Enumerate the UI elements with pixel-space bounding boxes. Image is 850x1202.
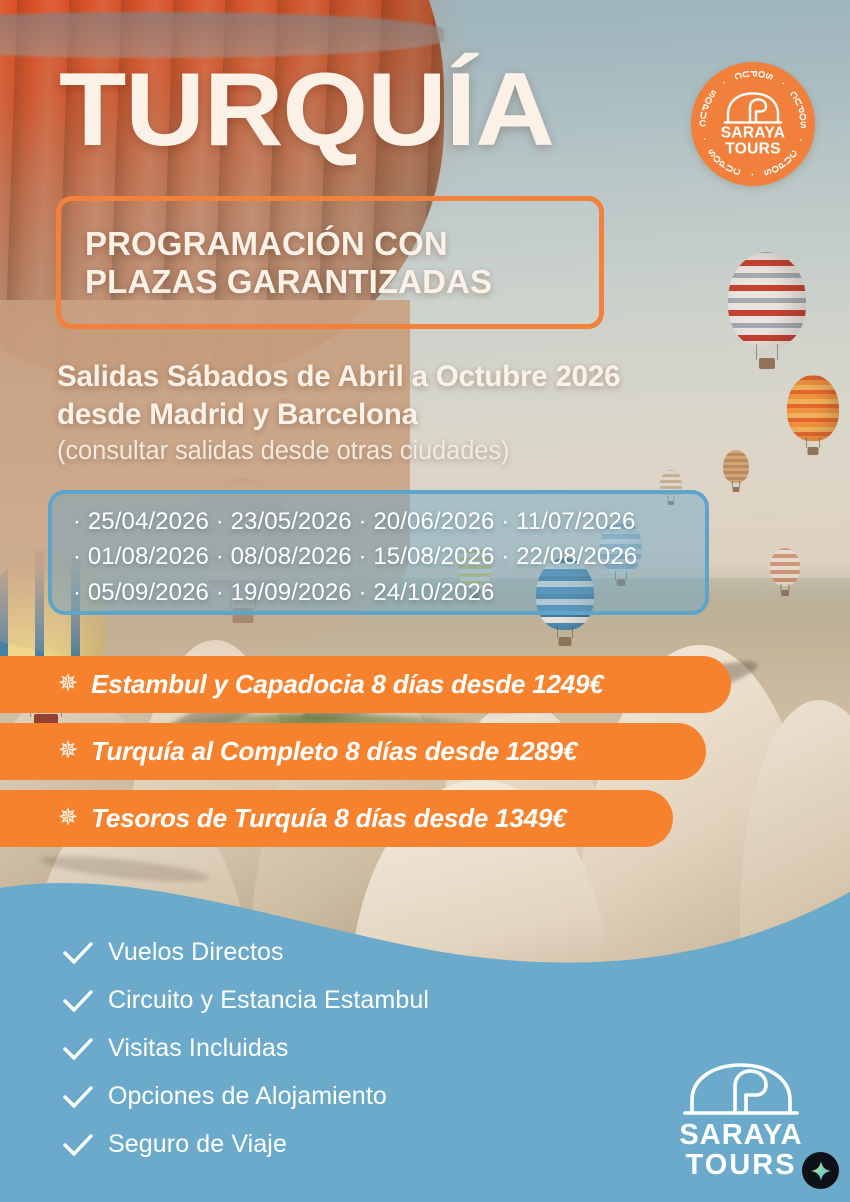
departures-line1: Salidas Sábados de Abril a Octubre 2026 (57, 358, 797, 396)
feature-label: Seguro de Viaje (108, 1132, 287, 1157)
features-list: Vuelos Directos Circuito y Estancia Esta… (62, 936, 429, 1161)
check-icon (62, 989, 94, 1013)
offer-banner-label: Turquía al Completo 8 días desde 1289€ (91, 736, 577, 767)
ai-sparkle-icon (810, 1160, 832, 1182)
ai-watermark-badge (802, 1152, 839, 1189)
dates-row: · 05/09/2026 · 19/09/2026 · 24/10/2026 (73, 575, 705, 610)
departures-line2: desde Madrid y Barcelona (57, 396, 797, 434)
footer-logo: SARAYA TOURS (672, 1058, 810, 1180)
hot-air-balloon (728, 252, 806, 348)
list-item: Vuelos Directos (62, 936, 429, 969)
page-title: TURQUÍA (59, 58, 554, 162)
saraya-arch-logo-icon (682, 1058, 800, 1116)
offer-banner-1[interactable]: ✵ Estambul y Capadocia 8 días desde 1249… (0, 656, 731, 713)
eight-point-star-icon: ✵ (58, 806, 78, 830)
offer-banner-label: Tesoros de Turquía 8 días desde 1349€ (91, 803, 566, 834)
feature-label: Vuelos Directos (108, 940, 284, 965)
check-icon (62, 941, 94, 965)
footer-logo-line1: SARAYA (672, 1121, 810, 1151)
headline-line2: PLAZAS GARANTIZADAS (85, 263, 492, 300)
list-item: Opciones de Alojamiento (62, 1080, 429, 1113)
hot-air-balloon (770, 548, 800, 586)
feature-label: Visitas Incluidas (108, 1036, 289, 1061)
guaranteed-seats-box: PROGRAMACIÓN CON PLAZAS GARANTIZADAS (56, 196, 604, 329)
headline-text: PROGRAMACIÓN CON PLAZAS GARANTIZADAS (61, 225, 492, 300)
offer-banner-label: Estambul y Capadocia 8 días desde 1249€ (91, 669, 603, 700)
check-icon (62, 1133, 94, 1157)
footer-logo-line2: TOURS (672, 1151, 810, 1181)
departures-note: (consultar salidas desde otras ciudades) (57, 437, 797, 466)
check-icon (62, 1085, 94, 1109)
eight-point-star-icon: ✵ (58, 672, 78, 696)
list-item: Circuito y Estancia Estambul (62, 984, 429, 1017)
eight-point-star-icon: ✵ (58, 739, 78, 763)
feature-label: Circuito y Estancia Estambul (108, 988, 429, 1013)
offer-banner-3[interactable]: ✵ Tesoros de Turquía 8 días desde 1349€ (0, 790, 673, 847)
saraya-arch-logo-icon (723, 90, 783, 124)
cupos-badge: CUPOS · CUPOS · CUPOS · CUPOS · CUPOS · … (691, 62, 815, 186)
list-item: Visitas Incluidas (62, 1032, 429, 1065)
travel-poster: TURQUÍA CUPOS · CUPOS · CUPOS · CUPOS · … (0, 0, 850, 1202)
badge-brand-line2: TOURS (710, 142, 796, 158)
list-item: Seguro de Viaje (62, 1128, 429, 1161)
badge-brand-line1: SARAYA (710, 125, 796, 141)
badge-core: SARAYA TOURS (710, 90, 796, 157)
dates-row: · 01/08/2026 · 08/08/2026 · 15/08/2026 ·… (73, 539, 705, 574)
offer-banner-2[interactable]: ✵ Turquía al Completo 8 días desde 1289€ (0, 723, 706, 780)
departures-block: Salidas Sábados de Abril a Octubre 2026 … (57, 358, 797, 466)
dates-row: · 25/04/2026 · 23/05/2026 · 20/06/2026 ·… (73, 504, 705, 539)
check-icon (62, 1037, 94, 1061)
feature-label: Opciones de Alojamiento (108, 1084, 387, 1109)
footer-logo-name: SARAYA TOURS (672, 1121, 810, 1180)
departure-dates-panel: · 25/04/2026 · 23/05/2026 · 20/06/2026 ·… (48, 490, 709, 615)
headline-line1: PROGRAMACIÓN CON (85, 225, 492, 262)
